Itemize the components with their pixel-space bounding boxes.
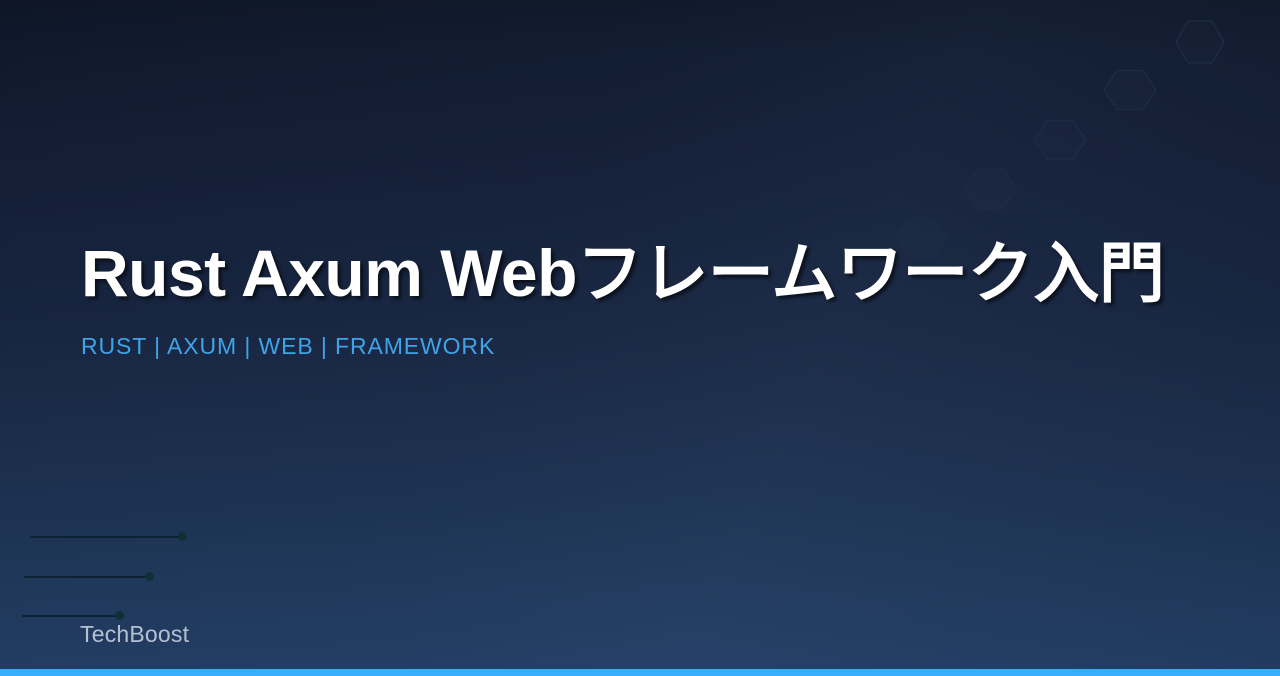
hexagon-icon-2 (1104, 71, 1156, 110)
brand-label: TechBoost (80, 621, 189, 648)
hexagon-icon-1 (1176, 21, 1224, 63)
decorative-dot-2 (145, 572, 154, 581)
hexagon-icon-4 (964, 170, 1016, 209)
page-subtitle: RUST | AXUM | WEB | FRAMEWORK (81, 307, 1201, 360)
decorative-line-3 (22, 615, 117, 617)
decorative-line-2 (24, 576, 147, 578)
decorative-dot-3 (115, 611, 124, 620)
decorative-dot-1 (178, 532, 187, 541)
decorative-line-1 (30, 536, 181, 538)
title-block: Rust Axum Webフレームワーク入門 RUST | AXUM | WEB… (81, 240, 1201, 360)
presentation-slide: Rust Axum Webフレームワーク入門 RUST | AXUM | WEB… (0, 0, 1280, 676)
bottom-accent-bar (0, 669, 1280, 676)
page-title: Rust Axum Webフレームワーク入門 (81, 240, 1201, 307)
hexagon-icon-3 (1034, 121, 1086, 160)
